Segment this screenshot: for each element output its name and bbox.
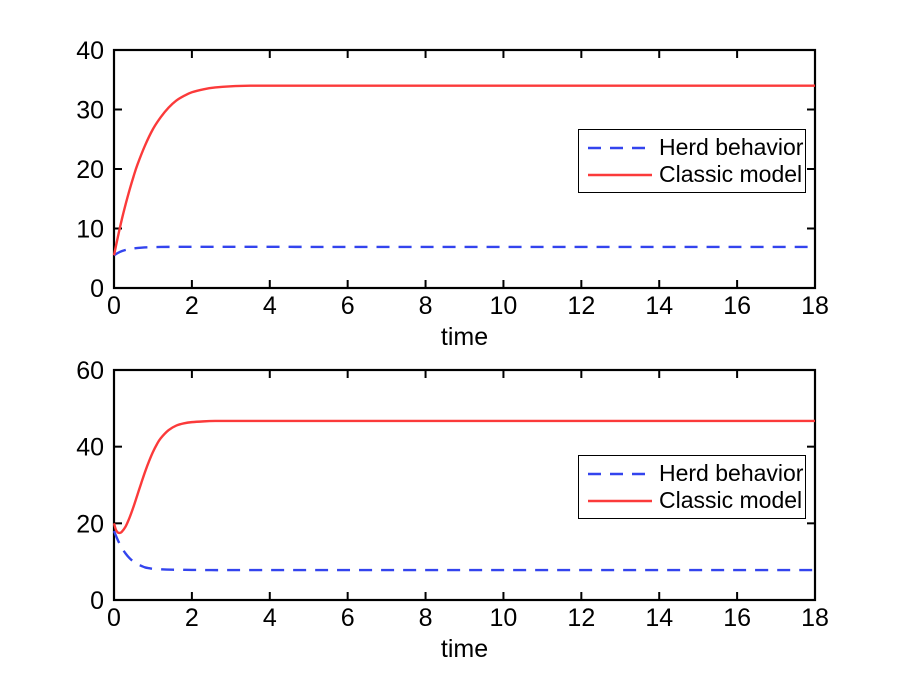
legend-label-herd: Herd behavior bbox=[659, 462, 803, 485]
x-tick-label: 14 bbox=[645, 292, 673, 320]
y-tick-label: 0 bbox=[90, 587, 104, 615]
chart-panel-top: 024681012141618010203040time Herd behavi… bbox=[0, 0, 900, 340]
y-tick-label: 30 bbox=[76, 97, 104, 125]
x-axis-title: time bbox=[441, 635, 488, 663]
x-tick-label: 6 bbox=[341, 292, 355, 320]
x-tick-label: 8 bbox=[419, 604, 433, 632]
y-tick-label: 0 bbox=[90, 275, 104, 303]
figure-canvas: 024681012141618010203040time Herd behavi… bbox=[0, 0, 900, 677]
x-tick-label: 4 bbox=[263, 604, 277, 632]
y-tick-label: 10 bbox=[76, 216, 104, 244]
legend-label-classic: Classic model bbox=[659, 163, 802, 186]
legend-top: Herd behavior Classic model bbox=[578, 129, 806, 193]
x-tick-label: 14 bbox=[645, 604, 673, 632]
y-tick-label: 20 bbox=[76, 510, 104, 538]
legend-bottom: Herd behavior Classic model bbox=[578, 455, 806, 519]
legend-swatch-classic-solid-line bbox=[587, 168, 653, 182]
x-tick-label: 10 bbox=[490, 292, 518, 320]
legend-entry-classic: Classic model bbox=[587, 161, 797, 188]
x-tick-label: 0 bbox=[107, 292, 121, 320]
legend-label-classic: Classic model bbox=[659, 489, 802, 512]
legend-swatch-classic-solid-line bbox=[587, 494, 653, 508]
y-tick-label: 60 bbox=[76, 357, 104, 385]
x-tick-label: 6 bbox=[341, 604, 355, 632]
x-tick-label: 18 bbox=[801, 292, 829, 320]
legend-swatch-herd-dashed-line bbox=[587, 467, 653, 481]
legend-entry-classic: Classic model bbox=[587, 487, 797, 514]
series-line-herd-behavior bbox=[114, 531, 815, 570]
legend-swatch-herd-dashed-line bbox=[587, 141, 653, 155]
x-tick-label: 2 bbox=[185, 292, 199, 320]
legend-entry-herd: Herd behavior bbox=[587, 134, 797, 161]
legend-entry-herd: Herd behavior bbox=[587, 460, 797, 487]
x-tick-label: 16 bbox=[723, 604, 751, 632]
x-tick-label: 4 bbox=[263, 292, 277, 320]
legend-label-herd: Herd behavior bbox=[659, 136, 803, 159]
y-tick-label: 40 bbox=[76, 434, 104, 462]
series-line-herd-behavior bbox=[114, 247, 815, 256]
y-tick-label: 20 bbox=[76, 156, 104, 184]
x-tick-label: 0 bbox=[107, 604, 121, 632]
chart-panel-bottom: 0246810121416180204060time Herd behavior… bbox=[0, 337, 900, 677]
y-tick-label: 40 bbox=[76, 37, 104, 65]
x-tick-label: 8 bbox=[419, 292, 433, 320]
x-tick-label: 18 bbox=[801, 604, 829, 632]
x-tick-label: 16 bbox=[723, 292, 751, 320]
x-tick-label: 2 bbox=[185, 604, 199, 632]
x-tick-label: 12 bbox=[567, 292, 595, 320]
x-tick-label: 10 bbox=[490, 604, 518, 632]
x-tick-label: 12 bbox=[567, 604, 595, 632]
